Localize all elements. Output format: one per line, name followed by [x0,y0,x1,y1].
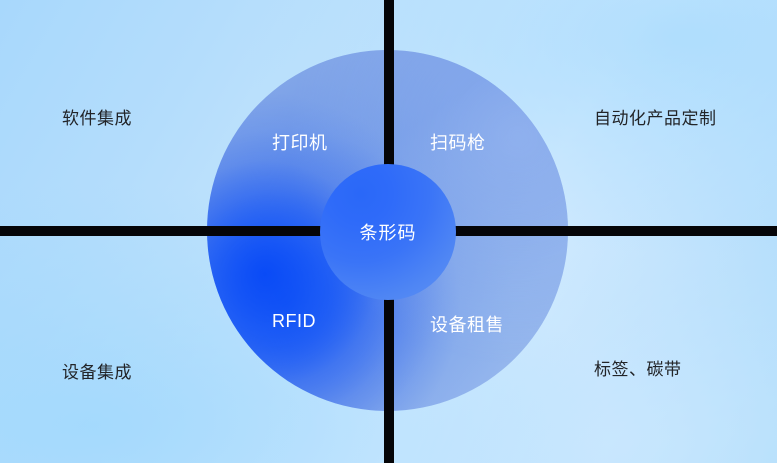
center-circle: 条形码 [320,164,456,300]
outer-label-labels-ribbons: 标签、碳带 [594,355,682,380]
ring-label-rfid: RFID [272,311,316,332]
ring-label-printer: 打印机 [272,129,328,155]
ring-label-scanner: 扫码枪 [430,129,486,155]
center-label: 条形码 [360,219,417,245]
diagram-canvas: 条形码 打印机 扫码枪 RFID 设备租售 软件集成 自动化产品定制 设备集成 … [0,0,777,463]
outer-label-software-integration: 软件集成 [62,104,132,129]
outer-label-device-integration: 设备集成 [62,358,132,383]
outer-label-automation-customization: 自动化产品定制 [594,104,717,129]
ring-label-rental: 设备租售 [430,311,504,337]
